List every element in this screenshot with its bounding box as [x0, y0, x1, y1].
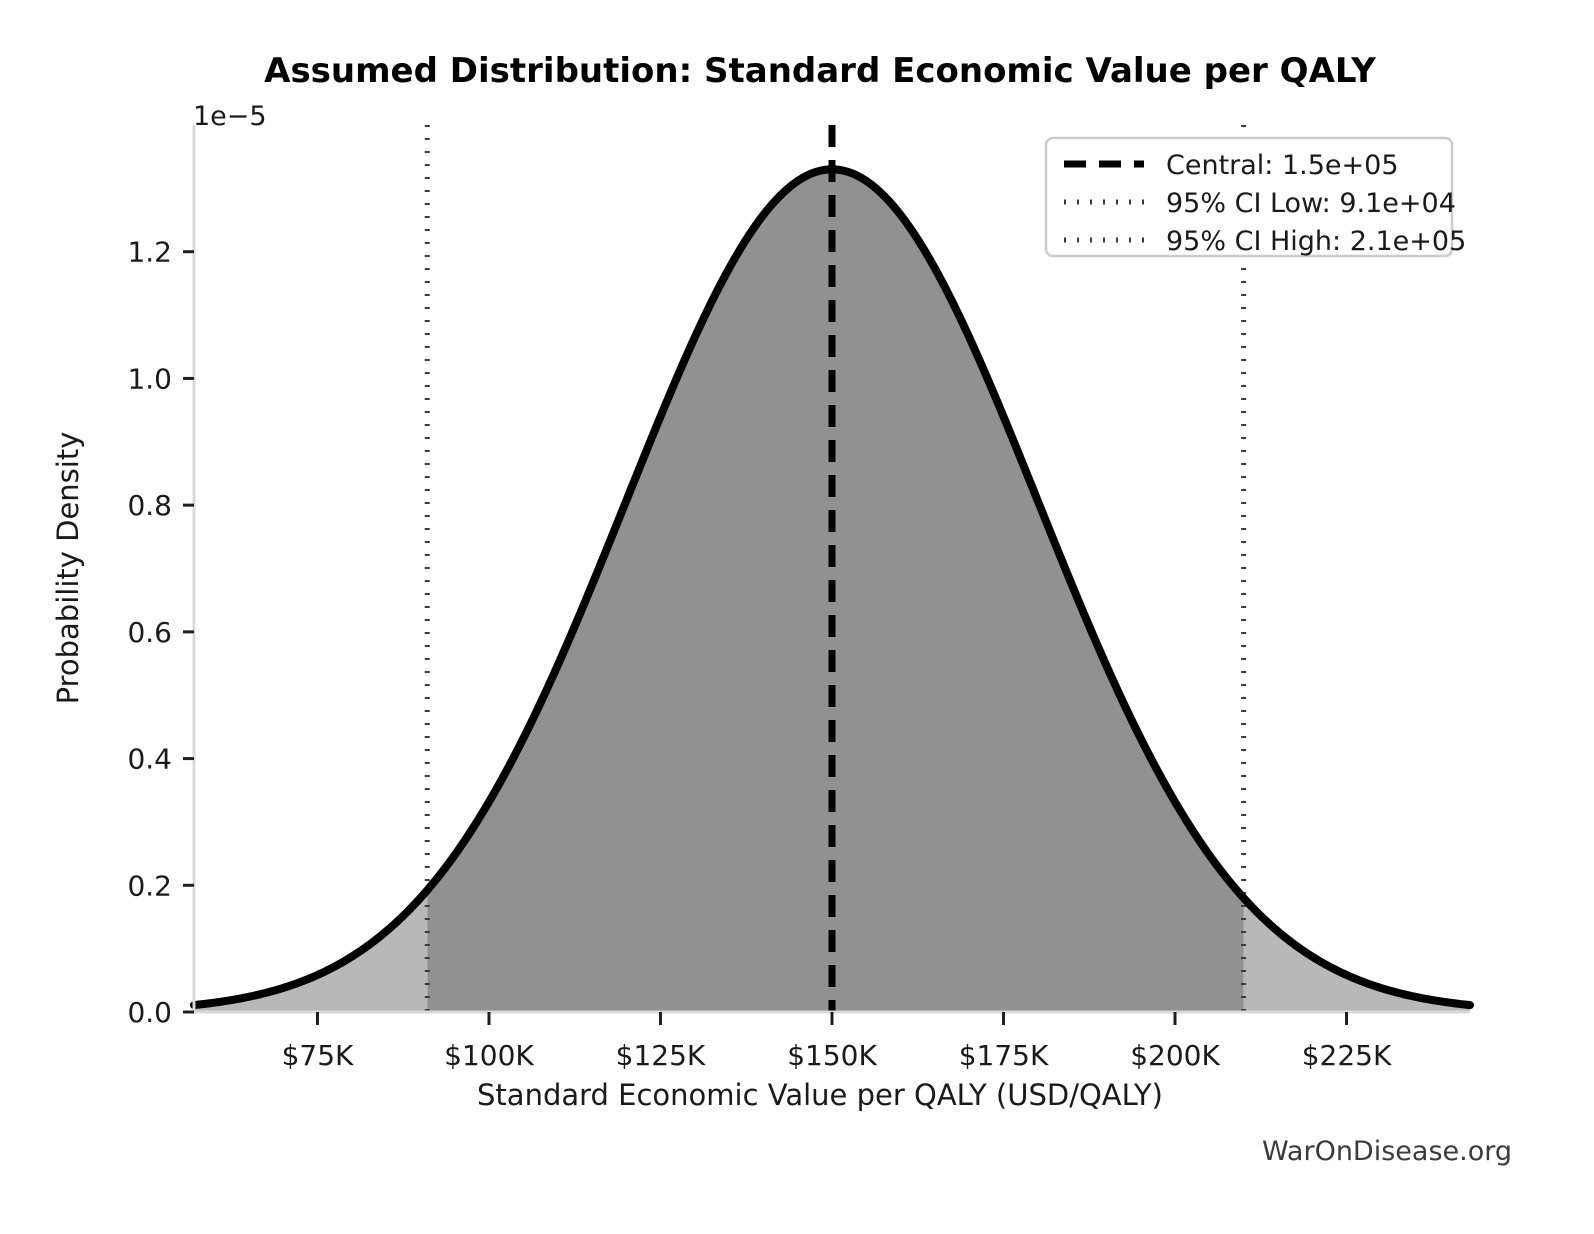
- y-axis-label: Probability Density: [51, 432, 85, 705]
- y-tick-label: 0.6: [127, 616, 172, 649]
- x-tick-label: $125K: [616, 1039, 706, 1072]
- x-tick-label: $100K: [444, 1039, 534, 1072]
- x-tick-label: $225K: [1302, 1039, 1392, 1072]
- x-axis-label: Standard Economic Value per QALY (USD/QA…: [477, 1078, 1163, 1112]
- y-tick-label: 0.0: [127, 996, 172, 1029]
- footer-attribution: WarOnDisease.org: [1262, 1136, 1512, 1167]
- x-tick-label: $75K: [282, 1039, 354, 1072]
- chart-figure: Assumed Distribution: Standard Economic …: [0, 0, 1594, 1234]
- chart-title: Assumed Distribution: Standard Economic …: [264, 51, 1376, 91]
- x-tick-label: $150K: [787, 1039, 877, 1072]
- y-tick-label: 1.2: [127, 236, 172, 269]
- legend-label-central[interactable]: Central: 1.5e+05: [1166, 150, 1399, 181]
- legend-label-ci-high[interactable]: 95% CI High: 2.1e+05: [1166, 226, 1466, 257]
- y-axis-offset-label: 1e−5: [193, 101, 267, 132]
- y-tick-label: 0.2: [127, 869, 172, 902]
- y-tick-label: 1.0: [127, 362, 172, 395]
- legend-label-ci-low[interactable]: 95% CI Low: 9.1e+04: [1166, 188, 1456, 219]
- x-tick-label: $200K: [1130, 1039, 1220, 1072]
- chart-legend[interactable]: Central: 1.5e+0595% CI Low: 9.1e+0495% C…: [1046, 138, 1466, 257]
- y-tick-label: 0.4: [127, 743, 172, 776]
- y-tick-label: 0.8: [127, 489, 172, 522]
- x-tick-label: $175K: [959, 1039, 1049, 1072]
